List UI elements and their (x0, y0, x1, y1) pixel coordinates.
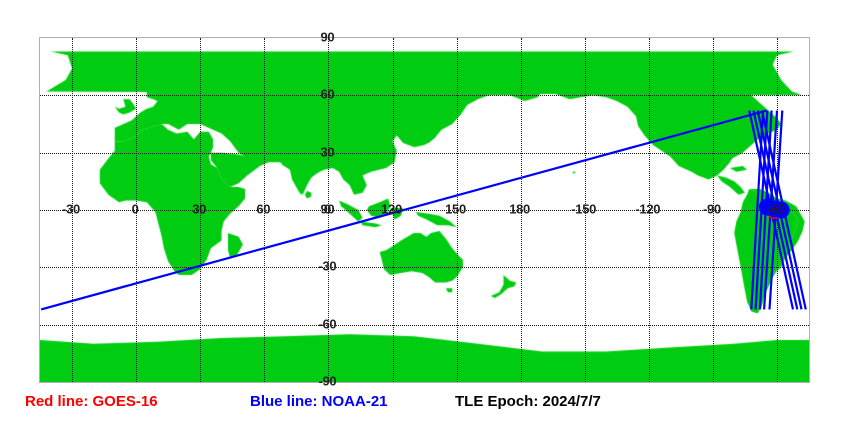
lon-tick--150: -150 (571, 203, 596, 216)
world-map-landmass-layer (40, 38, 809, 382)
lat-tick--30: -30 (318, 260, 336, 273)
lon-tick-150: 150 (445, 203, 466, 216)
lon-tick-180: 180 (509, 203, 530, 216)
lon-tick-120: 120 (381, 203, 402, 216)
lon-tick-0: 0 (132, 203, 139, 216)
legend-bar: Red line: GOES-16 Blue line: NOAA-21 TLE… (0, 392, 850, 420)
lat-tick-90: 90 (320, 31, 334, 44)
map-plot-area (39, 37, 810, 383)
lat-tick--90: -90 (318, 375, 336, 388)
lon-tick--30: -30 (62, 203, 80, 216)
lon-tick--120: -120 (635, 203, 660, 216)
lon-tick--90: -90 (703, 203, 721, 216)
legend-red-line-goes16: Red line: GOES-16 (25, 392, 158, 412)
lat-tick--60: -60 (318, 317, 336, 330)
lat-tick-0: 0 (324, 203, 331, 216)
lat-tick-60: 60 (320, 88, 334, 101)
lon-tick-30: 30 (192, 203, 206, 216)
legend-blue-line-noaa21: Blue line: NOAA-21 (250, 392, 388, 412)
legend-tle-epoch: TLE Epoch: 2024/7/7 (455, 392, 601, 412)
satellite-ground-track-map: -300306090120150180-150-120-90-609060300… (0, 0, 850, 425)
lon-tick--60: -60 (767, 203, 785, 216)
lon-tick-60: 60 (256, 203, 270, 216)
lat-tick-30: 30 (320, 145, 334, 158)
